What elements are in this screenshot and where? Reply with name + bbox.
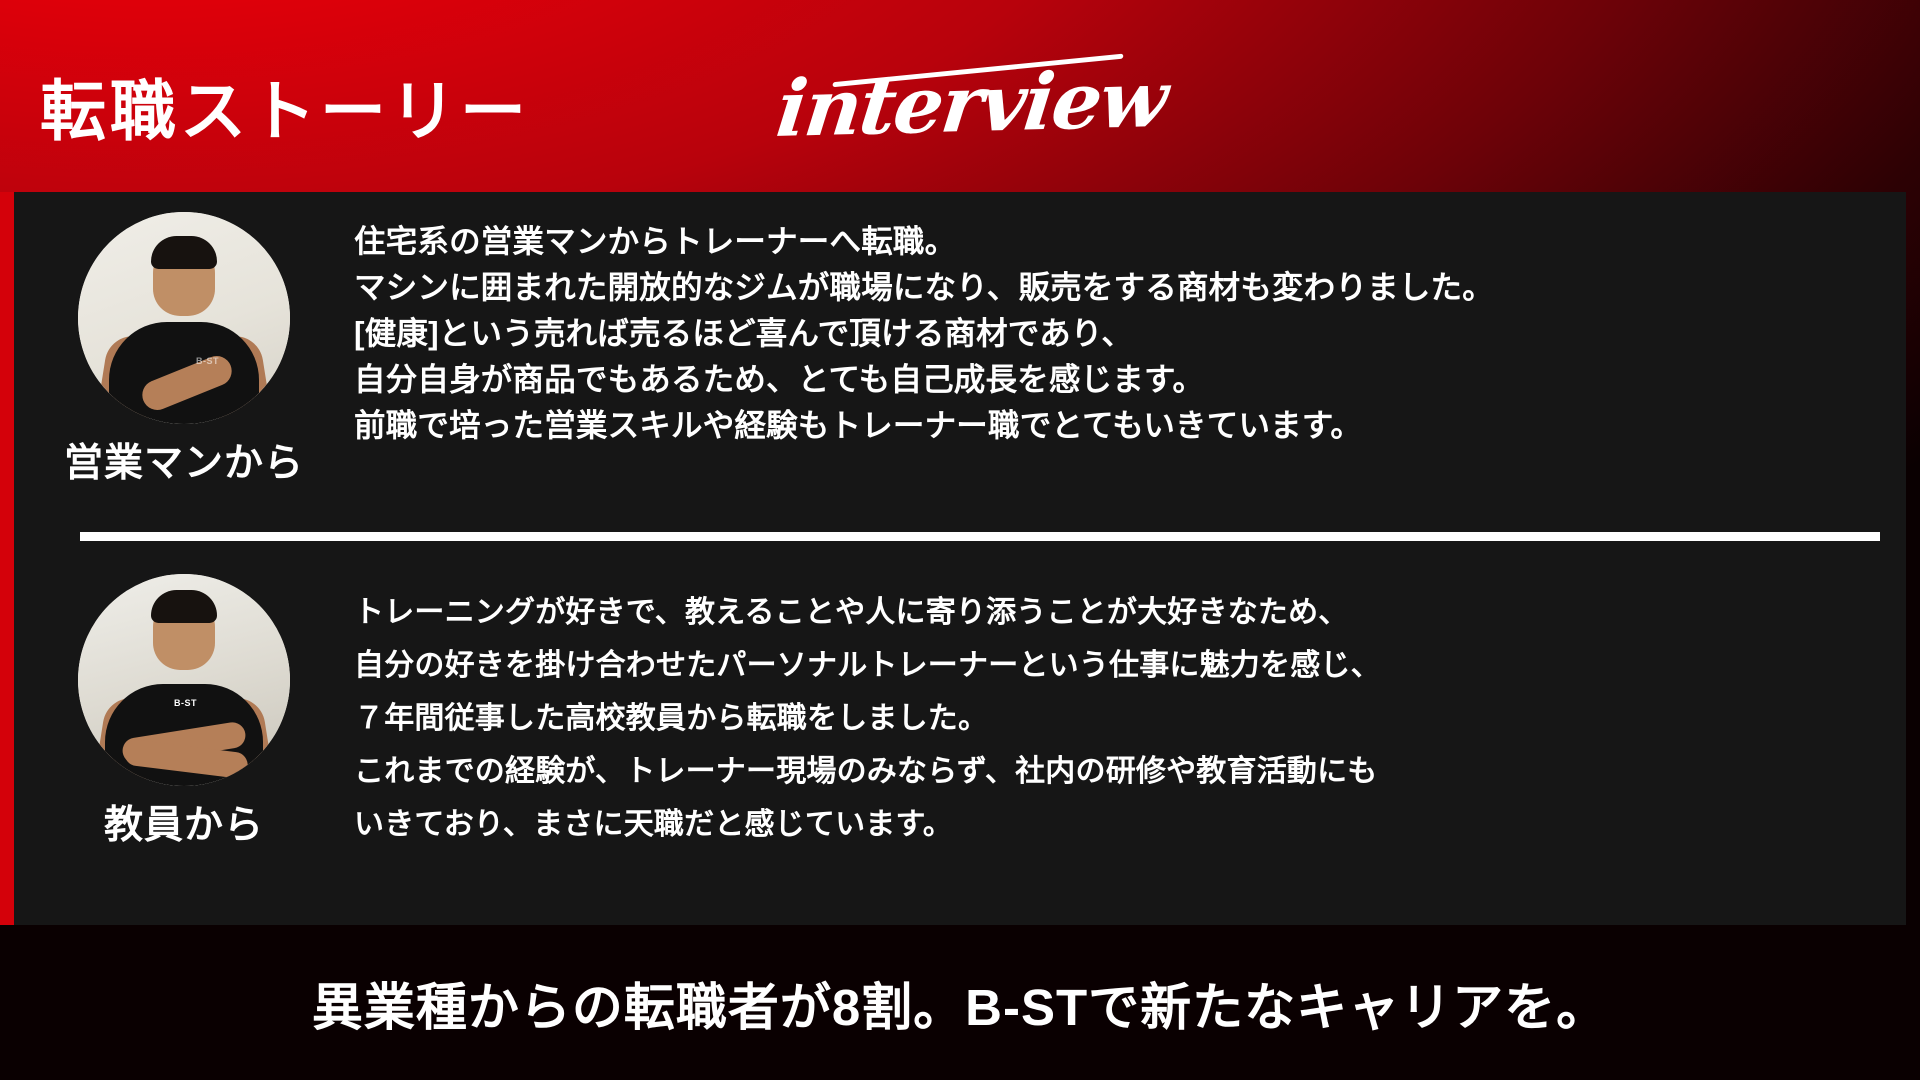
page-title: 転職ストーリー: [40, 78, 530, 144]
shirt-logo: B-ST: [196, 356, 219, 366]
testimonial-line: [健康]という売れば売るほど喜んで頂ける商材であり、: [354, 310, 1906, 356]
testimonial-line: 前職で培った営業スキルや経験もトレーナー職でとてもいきています。: [354, 402, 1906, 448]
person-label-sales: 営業マンから: [64, 432, 304, 488]
person-label-teacher: 教員から: [104, 794, 264, 850]
header: 転職ストーリー interview: [0, 0, 1920, 192]
testimonial-row-sales: B-ST 営業マンから 住宅系の営業マンからトレーナーへ転職。 マシンに囲まれた…: [14, 204, 1906, 524]
testimonial-line: ７年間従事した高校教員から転職をしました。: [354, 692, 1906, 745]
testimonial-text-teacher: トレーニングが好きで、教えることや人に寄り添うことが大好きなため、 自分の好きを…: [354, 562, 1906, 851]
person-block-teacher: B-ST 教員から: [14, 562, 354, 850]
trainer-photo-sales: B-ST: [78, 212, 290, 424]
testimonial-line: トレーニングが好きで、教えることや人に寄り添うことが大好きなため、: [354, 586, 1906, 639]
shirt-logo: B-ST: [174, 698, 197, 708]
section-divider: [80, 532, 1880, 541]
testimonials-panel: B-ST 営業マンから 住宅系の営業マンからトレーナーへ転職。 マシンに囲まれた…: [14, 192, 1906, 925]
interview-script-label: interview: [773, 61, 1170, 149]
testimonial-line: 自分自身が商品でもあるため、とても自己成長を感じます。: [354, 356, 1906, 402]
testimonial-text-sales: 住宅系の営業マンからトレーナーへ転職。 マシンに囲まれた開放的なジムが職場になり…: [354, 204, 1906, 448]
person-block-sales: B-ST 営業マンから: [14, 204, 354, 488]
testimonial-line: これまでの経験が、トレーナー現場のみならず、社内の研修や教育活動にも: [354, 745, 1906, 798]
testimonial-line: 自分の好きを掛け合わせたパーソナルトレーナーという仕事に魅力を感じ、: [354, 639, 1906, 692]
hair-shape: [151, 590, 217, 623]
panel-left-accent-bar: [0, 192, 14, 925]
hair-shape: [151, 236, 217, 269]
trainer-photo-teacher: B-ST: [78, 574, 290, 786]
footer-banner: 異業種からの転職者が8割。B-STで新たなキャリアを。: [0, 925, 1920, 1080]
interview-slide: 転職ストーリー interview B-ST 営業マンから: [0, 0, 1920, 1080]
testimonial-row-teacher: B-ST 教員から トレーニングが好きで、教えることや人に寄り添うことが大好きな…: [14, 562, 1906, 912]
testimonial-line: マシンに囲まれた開放的なジムが職場になり、販売をする商材も変わりました。: [354, 264, 1906, 310]
testimonial-line: 住宅系の営業マンからトレーナーへ転職。: [354, 218, 1906, 264]
testimonial-line: いきており、まさに天職だと感じています。: [354, 798, 1906, 851]
footer-tagline: 異業種からの転職者が8割。B-STで新たなキャリアを。: [312, 966, 1608, 1040]
